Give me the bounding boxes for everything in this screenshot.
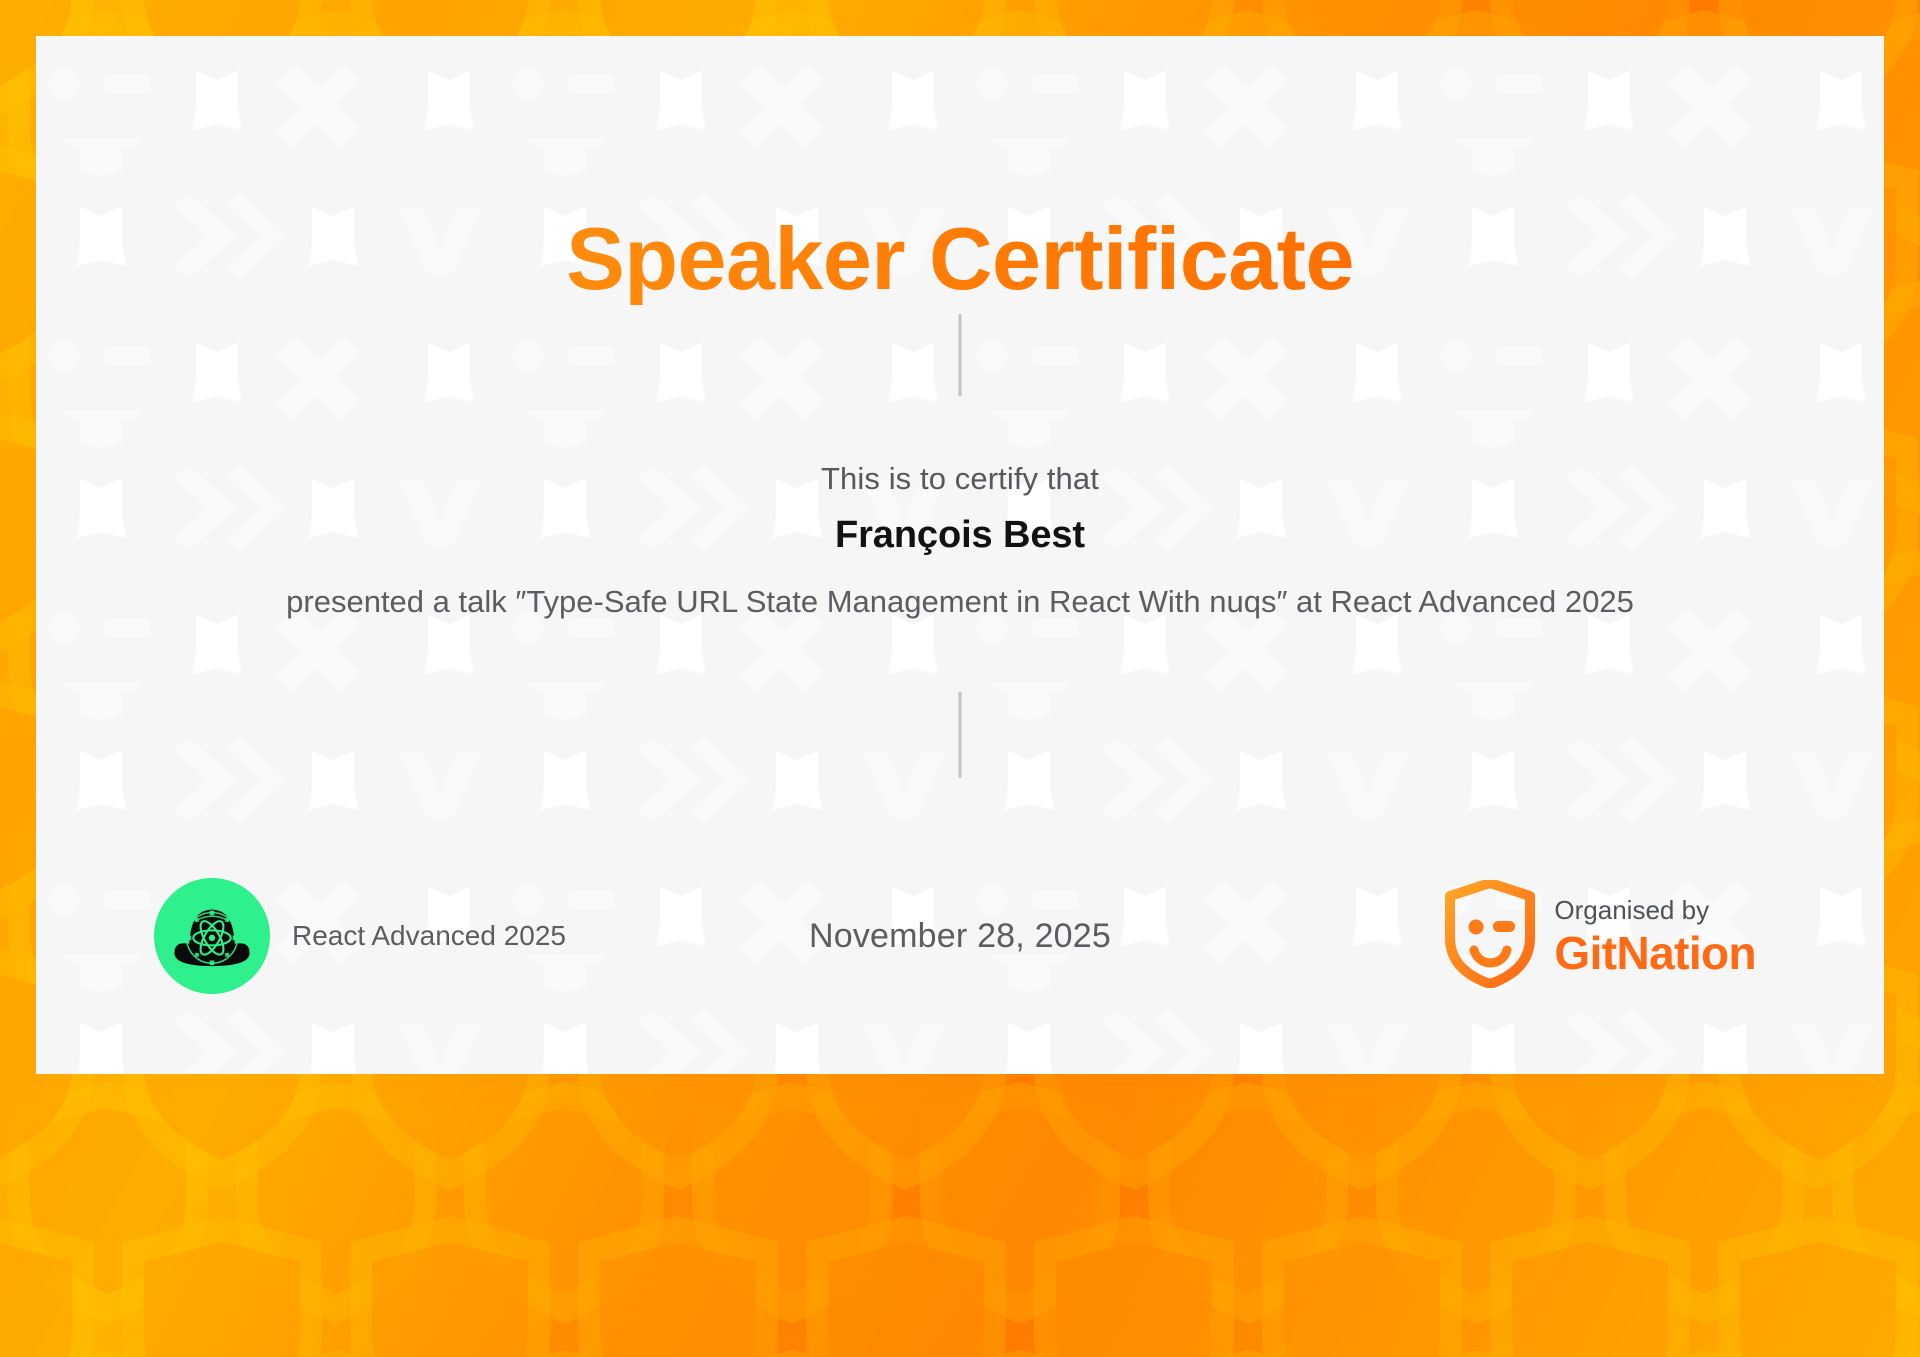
certificate-date: November 28, 2025 <box>809 917 1111 956</box>
recipient-name: François Best <box>36 514 1884 557</box>
organiser-name: GitNation <box>1554 930 1756 976</box>
certificate-footer: React Advanced 2025 November 28, 2025 <box>36 876 1884 996</box>
certificate-card: Speaker Certificate This is to certify t… <box>36 36 1884 1074</box>
divider-bottom <box>959 692 962 778</box>
organised-by-label: Organised by <box>1554 897 1756 923</box>
page-title: Speaker Certificate <box>36 213 1884 305</box>
talk-description: presented a talk ″Type-Safe URL State Ma… <box>186 581 1734 622</box>
gitnation-shield-face-icon <box>1444 880 1536 993</box>
speaker-certificate: Speaker Certificate This is to certify t… <box>0 0 1920 1357</box>
organiser-text: Organised by GitNation <box>1554 897 1756 976</box>
divider-top <box>959 314 962 396</box>
certify-line: This is to certify that <box>36 461 1884 497</box>
organiser-block: Organised by GitNation <box>1444 876 1756 996</box>
